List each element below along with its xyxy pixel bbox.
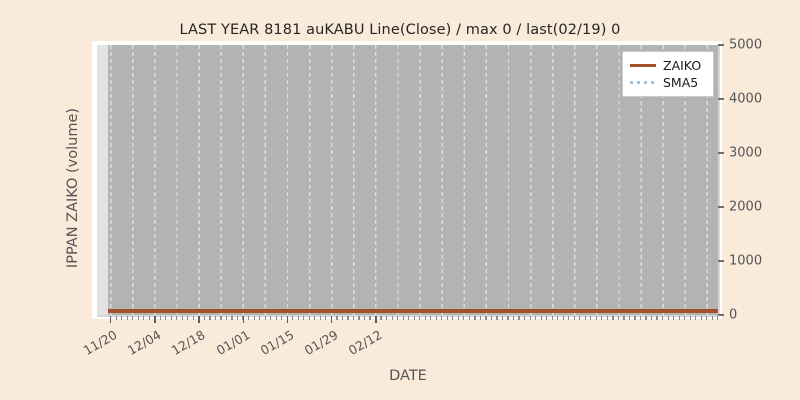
x-axis-minor-tick (298, 316, 299, 320)
x-axis-minor-tick (491, 316, 492, 320)
x-axis-minor-tick (127, 316, 128, 320)
x-axis-minor-tick (231, 316, 232, 320)
x-axis-minor-tick (524, 316, 525, 320)
x-axis-minor-tick (447, 316, 448, 320)
x-axis-minor-tick (165, 316, 166, 320)
x-axis-minor-tick (485, 316, 486, 320)
x-axis-minor-tick (601, 316, 602, 320)
x-axis-tick-label: 01/01 (206, 327, 252, 362)
x-axis-minor-tick (325, 316, 326, 320)
x-axis-minor-tick (530, 316, 531, 320)
x-axis-minor-tick (607, 316, 608, 320)
x-axis-minor-tick (458, 316, 459, 320)
x-axis-minor-tick (668, 316, 669, 320)
x-axis-minor-tick (187, 316, 188, 320)
x-axis-minor-tick (585, 316, 586, 320)
x-axis-minor-tick (557, 316, 558, 320)
y-axis-label: IPPAN ZAIKO (volume) (65, 88, 81, 288)
x-axis-tick-label: 12/18 (162, 327, 208, 362)
x-axis-minor-tick (132, 316, 133, 320)
x-axis-minor-tick (425, 316, 426, 320)
x-axis-tick-label: 12/04 (118, 327, 164, 362)
legend-item-zaiko[interactable]: ZAIKO (630, 57, 706, 74)
x-axis-minor-tick (220, 316, 221, 320)
x-axis-minor-tick (662, 316, 663, 320)
x-axis-minor-tick (546, 316, 547, 320)
x-axis-minor-tick (392, 316, 393, 320)
x-axis-tick-label: 01/15 (251, 327, 297, 362)
x-axis-minor-tick (574, 316, 575, 320)
x-axis-minor-tick (314, 316, 315, 320)
x-axis-minor-tick (645, 316, 646, 320)
y-axis-tick-label: 3000 (724, 146, 762, 159)
x-axis-minor-tick (563, 316, 564, 320)
x-axis-minor-tick (414, 316, 415, 320)
x-axis-minor-tick (552, 316, 553, 320)
legend-swatch-sma5-icon (630, 77, 656, 89)
y-axis-tick-label: 2000 (724, 200, 762, 213)
x-axis-minor-tick (204, 316, 205, 320)
x-axis-minor-tick (320, 316, 321, 320)
x-axis-label: DATE (96, 368, 720, 384)
x-axis-minor-tick (507, 316, 508, 320)
x-axis-major-tick (110, 316, 111, 323)
x-axis-minor-tick (265, 316, 266, 320)
x-axis-tick-label: 01/29 (295, 327, 341, 362)
x-axis-tick-label: 02/12 (339, 327, 385, 362)
x-axis-major-tick (375, 316, 376, 323)
x-axis-minor-tick (673, 316, 674, 320)
x-axis-minor-tick (336, 316, 337, 320)
x-axis-minor-tick (209, 316, 210, 320)
x-axis: 11/2012/0412/1801/0101/1501/2902/12 (97, 315, 718, 375)
x-axis-minor-tick (651, 316, 652, 320)
x-axis-major-tick (198, 316, 199, 323)
x-axis-major-tick (154, 316, 155, 323)
x-axis-minor-tick (160, 316, 161, 320)
x-axis-minor-tick (226, 316, 227, 320)
x-axis-minor-tick (441, 316, 442, 320)
x-axis-minor-tick (502, 316, 503, 320)
legend[interactable]: ZAIKO SMA5 (622, 51, 714, 97)
x-axis-minor-tick (292, 316, 293, 320)
x-axis-minor-tick (386, 316, 387, 320)
x-axis-minor-tick (596, 316, 597, 320)
x-axis-minor-tick (171, 316, 172, 320)
x-axis-minor-tick (397, 316, 398, 320)
x-axis-minor-tick (535, 316, 536, 320)
x-axis-minor-tick (353, 316, 354, 320)
x-axis-minor-tick (496, 316, 497, 320)
x-axis-minor-tick (706, 316, 707, 320)
x-axis-minor-tick (380, 316, 381, 320)
x-axis-minor-tick (656, 316, 657, 320)
x-axis-minor-tick (430, 316, 431, 320)
x-axis-minor-tick (248, 316, 249, 320)
x-axis-minor-tick (143, 316, 144, 320)
x-axis-minor-tick (568, 316, 569, 320)
x-axis-major-tick (331, 316, 332, 323)
x-axis-minor-tick (193, 316, 194, 320)
x-axis-minor-tick (579, 316, 580, 320)
x-axis-tick-label: 11/20 (74, 327, 120, 362)
y-axis-tick-label: 0 (724, 308, 737, 321)
x-axis-minor-tick (695, 316, 696, 320)
x-axis-minor-tick (358, 316, 359, 320)
x-axis-minor-tick (121, 316, 122, 320)
x-axis-minor-tick (684, 316, 685, 320)
y-axis-tick-label: 5000 (724, 38, 762, 51)
x-axis-minor-tick (679, 316, 680, 320)
chart-title: LAST YEAR 8181 auKABU Line(Close) / max … (0, 22, 800, 38)
chart-figure: LAST YEAR 8181 auKABU Line(Close) / max … (0, 0, 800, 400)
y-axis-tick-label: 1000 (724, 254, 762, 267)
plot-left-band (97, 45, 108, 315)
x-axis-minor-tick (369, 316, 370, 320)
x-axis-minor-tick (463, 316, 464, 320)
x-axis-minor-tick (618, 316, 619, 320)
x-axis-minor-tick (259, 316, 260, 320)
x-axis-minor-tick (590, 316, 591, 320)
x-axis-minor-tick (419, 316, 420, 320)
x-axis-minor-tick (403, 316, 404, 320)
x-axis-minor-tick (182, 316, 183, 320)
x-axis-minor-tick (149, 316, 150, 320)
x-axis-minor-tick (690, 316, 691, 320)
x-axis-minor-tick (309, 316, 310, 320)
x-axis-minor-tick (270, 316, 271, 320)
x-axis-minor-tick (629, 316, 630, 320)
x-axis-minor-tick (452, 316, 453, 320)
x-axis-minor-tick (634, 316, 635, 320)
x-axis-minor-tick (281, 316, 282, 320)
x-axis-minor-tick (712, 316, 713, 320)
x-axis-minor-tick (254, 316, 255, 320)
x-axis-minor-tick (474, 316, 475, 320)
x-axis-minor-tick (541, 316, 542, 320)
y-axis-tick-label: 4000 (724, 92, 762, 105)
series-line-zaiko (108, 309, 718, 313)
x-axis-minor-tick (176, 316, 177, 320)
x-axis-minor-tick (480, 316, 481, 320)
x-axis-minor-tick (717, 316, 718, 320)
x-axis-minor-tick (138, 316, 139, 320)
legend-swatch-zaiko-icon (630, 60, 656, 72)
x-axis-minor-tick (342, 316, 343, 320)
x-axis-minor-tick (303, 316, 304, 320)
x-axis-minor-tick (623, 316, 624, 320)
legend-label-zaiko: ZAIKO (656, 58, 701, 73)
x-axis-minor-tick (408, 316, 409, 320)
x-axis-minor-tick (436, 316, 437, 320)
x-axis-major-tick (287, 316, 288, 323)
x-axis-minor-tick (518, 316, 519, 320)
x-axis-minor-tick (701, 316, 702, 320)
x-axis-major-tick (243, 316, 244, 323)
x-axis-minor-tick (640, 316, 641, 320)
y-axis-spine (718, 45, 720, 315)
legend-item-sma5[interactable]: SMA5 (630, 74, 706, 91)
x-axis-minor-tick (612, 316, 613, 320)
x-axis-minor-tick (116, 316, 117, 320)
x-axis-minor-tick (237, 316, 238, 320)
x-axis-minor-tick (276, 316, 277, 320)
x-axis-minor-tick (513, 316, 514, 320)
legend-label-sma5: SMA5 (656, 75, 698, 90)
x-axis-minor-tick (215, 316, 216, 320)
x-axis-minor-tick (469, 316, 470, 320)
y-axis: 010002000300040005000 (718, 45, 788, 315)
x-axis-minor-tick (347, 316, 348, 320)
x-axis-minor-tick (364, 316, 365, 320)
